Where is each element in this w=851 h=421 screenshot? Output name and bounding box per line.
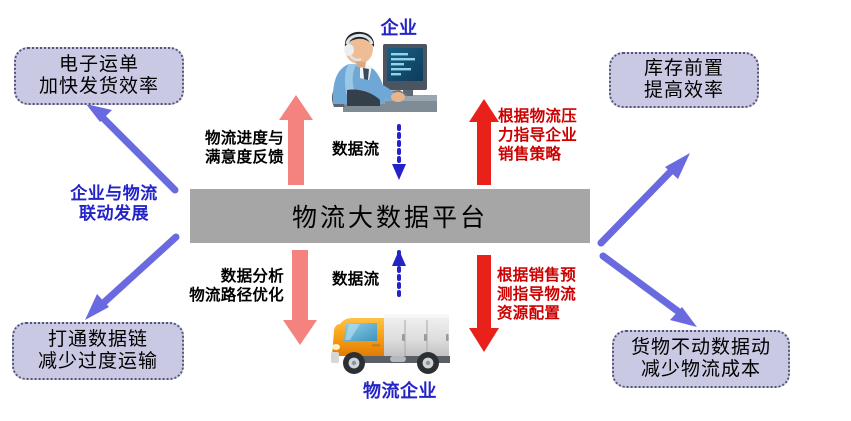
- caption-line-2: 力指导企业: [498, 127, 577, 146]
- caption-line-2: 测指导物流: [497, 286, 576, 305]
- caption-line-1: 数据分析: [186, 268, 284, 287]
- purple-outcome-arrow-bottom-left: [85, 237, 176, 320]
- caption-line-3: 销售策略: [498, 146, 577, 165]
- caption-line-2: 满意度反馈: [188, 149, 284, 168]
- platform-bar: 物流大数据平台: [190, 189, 590, 243]
- red-up-arrow-guide-sales: [469, 99, 499, 185]
- label-enterprise-logistics-linkage: 企业与物流 联动发展: [44, 184, 184, 225]
- callout-line-2: 提高效率: [644, 80, 724, 102]
- callout-line-2: 减少过度运输: [38, 351, 158, 373]
- blue-dotted-down-arrow-dataflow: [392, 126, 406, 180]
- caption-guide-logistics-resources: 根据销售预 测指导物流 资源配置: [497, 267, 576, 324]
- caption-logistics-progress-feedback: 物流进度与 满意度反馈: [188, 130, 284, 168]
- purple-outcome-arrow-top-right: [601, 153, 690, 243]
- caption-line-1: 物流进度与: [188, 130, 284, 149]
- pink-up-arrow-feedback: [279, 95, 313, 185]
- caption-line-2: 物流路径优化: [186, 287, 284, 306]
- callout-electronic-waybill[interactable]: 电子运单 加快发货效率: [14, 47, 184, 105]
- linkage-line-2: 联动发展: [44, 204, 184, 224]
- red-down-arrow-guide-resources: [469, 255, 499, 352]
- caption-dataflow-down: 数据流: [332, 141, 379, 160]
- caption-line-1: 根据销售预: [497, 267, 576, 286]
- enterprise-label-text: 企业: [355, 18, 443, 40]
- callout-line-1: 货物不动数据动: [631, 337, 771, 359]
- pink-down-arrow-analysis: [283, 250, 317, 345]
- callout-reduce-cost[interactable]: 货物不动数据动 减少物流成本: [612, 330, 790, 388]
- caption-line-3: 资源配置: [497, 305, 576, 324]
- label-logistics-enterprise: 物流企业: [340, 381, 460, 403]
- delivery-truck-icon: [331, 314, 450, 374]
- label-enterprise: 企业: [355, 18, 443, 40]
- callout-line-2: 加快发货效率: [39, 76, 159, 98]
- callout-line-2: 减少物流成本: [641, 359, 761, 381]
- purple-outcome-arrow-top-left: [86, 104, 175, 190]
- caption-data-analysis-route-optimization: 数据分析 物流路径优化: [186, 268, 284, 306]
- callout-data-chain[interactable]: 打通数据链 减少过度运输: [12, 322, 184, 380]
- callout-inventory-forward[interactable]: 库存前置 提高效率: [609, 52, 759, 108]
- blue-dotted-up-arrow-dataflow: [392, 250, 406, 300]
- caption-dataflow-up: 数据流: [332, 271, 379, 290]
- platform-title: 物流大数据平台: [292, 198, 488, 234]
- caption-guide-sales-strategy: 根据物流压 力指导企业 销售策略: [498, 108, 577, 165]
- caption-line-1: 根据物流压: [498, 108, 577, 127]
- callout-line-1: 打通数据链: [48, 329, 148, 351]
- linkage-line-1: 企业与物流: [44, 184, 184, 204]
- logistics-bigdata-platform-diagram: 物流大数据平台 电子运单 加快发货效率 库存前置 提高效率 打通数据链 减少过度…: [0, 0, 851, 421]
- purple-outcome-arrow-bottom-right: [603, 256, 697, 327]
- caption-line-1: 数据流: [332, 271, 379, 290]
- person-at-computer-icon: [332, 32, 437, 112]
- logistics-label-text: 物流企业: [340, 381, 460, 403]
- caption-line-1: 数据流: [332, 141, 379, 160]
- callout-line-1: 电子运单: [59, 54, 139, 76]
- callout-line-1: 库存前置: [644, 58, 724, 80]
